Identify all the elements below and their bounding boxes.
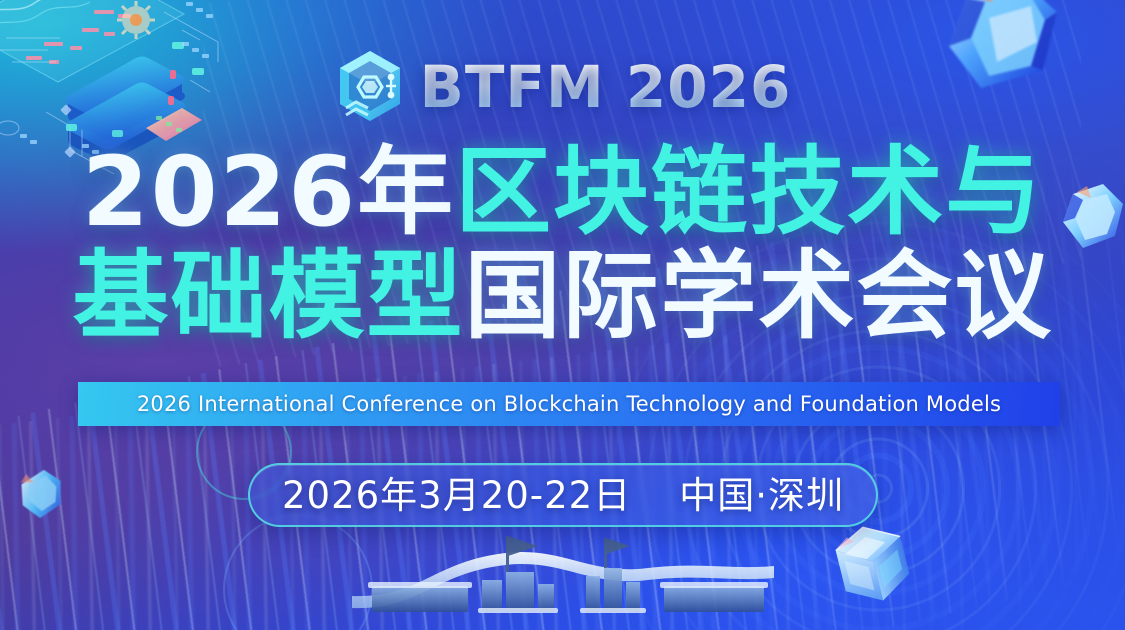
title-line-1: 2026年区块链技术与: [0, 140, 1125, 244]
title-line1-segment-2: 区块链技术与: [455, 136, 1043, 248]
main-title: 2026年区块链技术与 基础模型国际学术会议: [0, 140, 1125, 348]
conference-location: 中国·深圳: [679, 477, 844, 514]
crystal-cube-icon: [819, 514, 927, 622]
circle-outline-decor-secondary: [223, 514, 373, 630]
hexagon-cube-logo-icon: [334, 48, 406, 126]
conference-date: 2026年3月20-22日: [282, 477, 631, 514]
english-subtitle-bar: 2026 International Conference on Blockch…: [78, 382, 1060, 426]
logo-row: BTFM 2026: [0, 48, 1125, 126]
title-line2-segment-1: 基础模型: [73, 240, 465, 352]
crystal-gem-icon-left: [12, 464, 72, 524]
title-line2-segment-2: 国际学术会议: [465, 240, 1053, 352]
conference-banner: BTFM 2026 2026年区块链技术与 基础模型国际学术会议 2026 In…: [0, 0, 1125, 630]
date-location-pill: 2026年3月20-22日 中国·深圳: [248, 463, 878, 527]
english-subtitle-text: 2026 International Conference on Blockch…: [78, 392, 1060, 416]
logo-text: BTFM 2026: [420, 58, 792, 116]
shenzhen-skyline-silhouette: [348, 524, 778, 630]
title-line-2: 基础模型国际学术会议: [0, 244, 1125, 348]
title-line1-segment-1: 2026年: [82, 136, 455, 248]
